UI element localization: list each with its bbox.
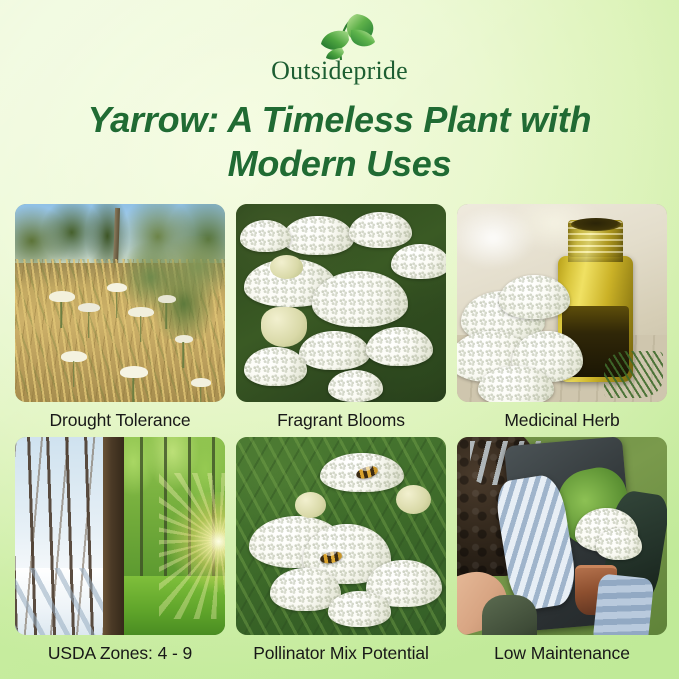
feature-cell-fragrant-blooms: Fragrant Blooms [236, 204, 446, 431]
feature-image-fragrant-blooms [236, 204, 446, 402]
feature-image-medicinal-herb [457, 204, 667, 402]
feature-cell-drought-tolerance: Drought Tolerance [15, 204, 225, 431]
feature-caption: Low Maintenance [457, 642, 667, 664]
brand-logo: Outsidepride [0, 0, 679, 84]
infographic-poster: Outsidepride Yarrow: A Timeless Plant wi… [0, 0, 679, 679]
feature-image-low-maintenance [457, 437, 667, 635]
feature-grid: Drought Tolerance [15, 204, 664, 664]
feature-caption: USDA Zones: 4 - 9 [15, 642, 225, 664]
feature-caption: Fragrant Blooms [236, 409, 446, 431]
feature-image-drought-tolerance [15, 204, 225, 402]
feature-image-pollinator-mix [236, 437, 446, 635]
feature-cell-low-maintenance: Low Maintenance [457, 437, 667, 664]
feature-caption: Pollinator Mix Potential [236, 642, 446, 664]
feature-caption: Drought Tolerance [15, 409, 225, 431]
feature-cell-usda-zones: USDA Zones: 4 - 9 [15, 437, 225, 664]
brand-name: Outsidepride [271, 58, 408, 84]
feature-cell-pollinator-mix: Pollinator Mix Potential [236, 437, 446, 664]
feature-image-usda-zones [15, 437, 225, 635]
feature-cell-medicinal-herb: Medicinal Herb [457, 204, 667, 431]
page-title: Yarrow: A Timeless Plant with Modern Use… [34, 98, 645, 186]
feature-caption: Medicinal Herb [457, 409, 667, 431]
